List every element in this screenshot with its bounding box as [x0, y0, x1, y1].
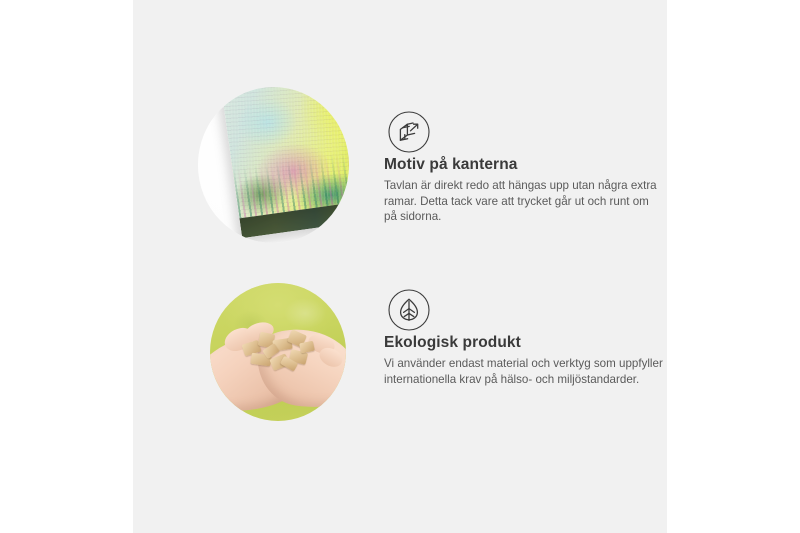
- product-feature-infographic: Motiv på kanterna Tavlan är direkt redo …: [0, 0, 800, 533]
- canvas-print-corner-photo: [198, 87, 349, 243]
- wood-chip-pile: [240, 329, 319, 376]
- feature-title: Motiv på kanterna: [384, 155, 664, 174]
- canvas-corner: [222, 87, 349, 238]
- wood-chip: [299, 340, 315, 353]
- feature-body: Vi använder endast material och verktyg …: [384, 356, 674, 387]
- feature-text-2: Ekologisk produkt Vi använder endast mat…: [384, 333, 674, 387]
- canvas-wrapped-edge-icon: [388, 111, 430, 153]
- wood-chips-in-hands-photo: [210, 283, 346, 421]
- feature-title: Ekologisk produkt: [384, 333, 674, 352]
- feature-block-ekologisk-produkt: Ekologisk produkt Vi använder endast mat…: [133, 266, 667, 533]
- feature-body: Tavlan är direkt redo att hängas upp uta…: [384, 178, 664, 225]
- feature-text-1: Motiv på kanterna Tavlan är direkt redo …: [384, 155, 664, 225]
- feature-block-motiv-pa-kanterna: Motiv på kanterna Tavlan är direkt redo …: [133, 0, 667, 266]
- leaf-icon: [388, 289, 430, 331]
